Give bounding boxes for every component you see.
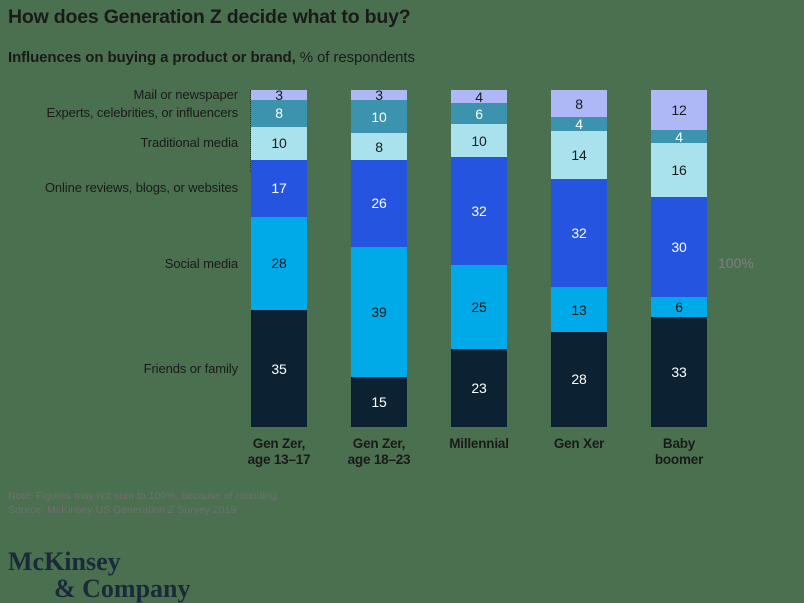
bar-segment[interactable]: 23 — [451, 349, 507, 427]
bar-segment[interactable]: 3 — [251, 90, 307, 100]
bar-segment[interactable]: 6 — [651, 297, 707, 317]
series-label: Online reviews, blogs, or websites — [45, 180, 238, 195]
logo-line-1: McKinsey — [8, 547, 121, 576]
bar-segment[interactable]: 8 — [551, 90, 607, 117]
bar-segment[interactable]: 10 — [451, 124, 507, 158]
bar-segment[interactable]: 13 — [551, 287, 607, 331]
bar-segment[interactable]: 14 — [551, 131, 607, 179]
bar-column[interactable]: 3108263915 — [351, 90, 407, 427]
chart-footnotes: Note: Figures may not sum to 100%, becau… — [8, 489, 279, 517]
bar-segment[interactable]: 4 — [551, 117, 607, 131]
logo-line-2: & Company — [54, 575, 191, 602]
leader-line — [250, 90, 251, 172]
total-annotation: 100% — [718, 255, 754, 271]
bar-segment[interactable]: 39 — [351, 247, 407, 377]
bar-segment[interactable]: 4 — [651, 130, 707, 143]
bar-segment[interactable]: 4 — [451, 90, 507, 103]
bar-column[interactable]: 4610322523 — [451, 90, 507, 427]
bar-segment[interactable]: 8 — [351, 133, 407, 160]
bar-segment[interactable]: 25 — [451, 265, 507, 349]
bar-segment[interactable]: 6 — [451, 103, 507, 123]
bar-segment[interactable]: 35 — [251, 310, 307, 427]
series-label: Friends or family — [144, 361, 238, 376]
bar-column[interactable]: 8414321328 — [551, 90, 607, 427]
bar-column[interactable]: 3810172835 — [251, 90, 307, 427]
x-axis-label-line: age 18–23 — [319, 452, 439, 468]
x-axis-label-line: boomer — [619, 452, 739, 468]
series-label: Experts, celebrities, or influencers — [47, 105, 238, 120]
bar-segment[interactable]: 17 — [251, 160, 307, 217]
bar-segment[interactable]: 10 — [251, 127, 307, 160]
series-label: Traditional media — [140, 135, 238, 150]
bar-segment[interactable]: 33 — [651, 317, 707, 427]
bar-segment[interactable]: 16 — [651, 143, 707, 196]
bar-segment[interactable]: 32 — [551, 179, 607, 288]
series-label: Mail or newspaper — [133, 87, 238, 102]
bar-segment[interactable]: 26 — [351, 160, 407, 247]
bar-column[interactable]: 1241630633 — [651, 90, 707, 427]
bar-segment[interactable]: 30 — [651, 197, 707, 297]
footnote-source: Source: McKinsey US Generation Z Survey … — [8, 503, 279, 517]
bar-segment[interactable]: 12 — [651, 90, 707, 130]
x-axis-label-line: Baby — [619, 436, 739, 452]
bar-segment[interactable]: 28 — [551, 332, 607, 427]
bar-segment[interactable]: 3 — [351, 90, 407, 100]
bar-segment[interactable]: 10 — [351, 100, 407, 133]
x-axis-label: Babyboomer — [619, 436, 739, 468]
bar-segment[interactable]: 32 — [451, 157, 507, 265]
mckinsey-logo: McKinsey & Company — [8, 548, 191, 602]
footnote-note: Note: Figures may not sum to 100%, becau… — [8, 489, 279, 503]
bar-segment[interactable]: 28 — [251, 217, 307, 310]
bar-segment[interactable]: 8 — [251, 100, 307, 127]
series-label: Social media — [165, 256, 238, 271]
chart-page: How does Generation Z decide what to buy… — [0, 0, 804, 601]
bar-segment[interactable]: 15 — [351, 377, 407, 427]
